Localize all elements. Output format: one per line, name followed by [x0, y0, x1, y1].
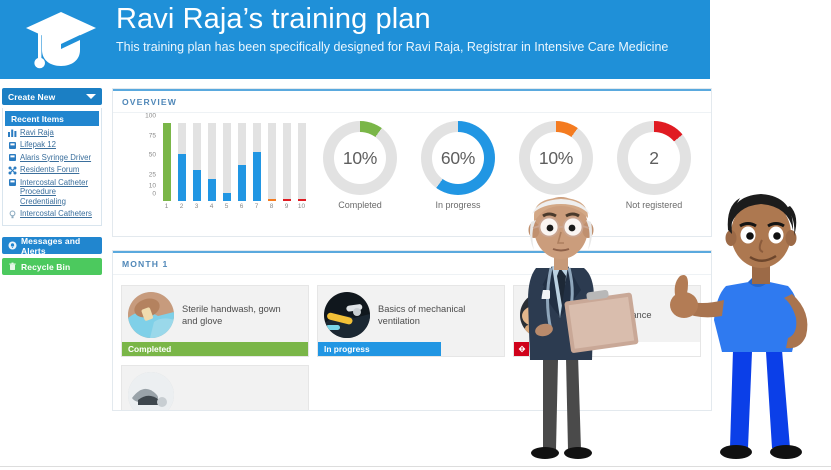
month-panel-header: MONTH 1: [113, 251, 711, 275]
bar-fill[interactable]: [283, 199, 291, 201]
y-axis-tick-label: 25: [149, 171, 159, 178]
overview-panel-header: OVERVIEW: [113, 89, 711, 113]
y-axis-tick-label: 100: [145, 113, 159, 120]
status-badge: Not: [514, 342, 700, 356]
recycle-bin-label: Recycle Bin: [21, 262, 70, 272]
recent-items-header: Recent Items: [5, 111, 99, 126]
donut-label: Completed: [323, 200, 397, 210]
bar-track: [208, 123, 216, 201]
page-title: Ravi Raja’s training plan: [116, 1, 706, 37]
chart-bar-icon: [8, 128, 17, 137]
device-icon: [8, 178, 17, 187]
lightbulb-icon: [8, 210, 17, 219]
chart-plot-area: 01025507510012345678910: [159, 123, 309, 201]
donut-value: 10%: [334, 132, 386, 184]
trash-icon: [8, 262, 17, 271]
bar-fill[interactable]: [163, 123, 171, 201]
status-badge: Completed: [122, 342, 308, 356]
donut-ring: 60%: [421, 121, 495, 195]
page-subtitle: This training plan has been specifically…: [116, 39, 706, 55]
bar-fill[interactable]: [193, 170, 201, 201]
messages-label: Messages and Alerts: [21, 236, 96, 256]
x-axis-tick-label: 10: [296, 203, 308, 210]
alert-diamond-icon: [514, 342, 529, 356]
x-axis-tick-label: 5: [221, 203, 233, 210]
x-axis-tick-label: 6: [236, 203, 248, 210]
course-card[interactable]: nique performance Not: [513, 285, 701, 357]
donut-not-started[interactable]: 10% No: [519, 121, 593, 210]
donut-completed[interactable]: 10% Completed: [323, 121, 397, 210]
list-item[interactable]: Intercostal Catheter Procedure Credentia…: [3, 176, 101, 208]
course-card-list: Sterile handwash, gown and glove Complet…: [113, 275, 711, 410]
course-title: nique performance: [574, 309, 656, 322]
messages-and-alerts-button[interactable]: Messages and Alerts: [2, 237, 102, 254]
bar-track: [268, 123, 276, 201]
course-title: Sterile handwash, gown and glove: [182, 303, 302, 328]
donut-ring: 10%: [323, 121, 397, 195]
bar-fill[interactable]: [268, 199, 276, 201]
donut-ring: 2: [617, 121, 691, 195]
donut-value: 2: [628, 132, 680, 184]
sidebar: Create New Recent Items Ravi Raja Lifepa…: [0, 88, 104, 275]
forum-icon: [8, 166, 17, 175]
recent-items-panel: Recent Items Ravi Raja Lifepak 12 Alaris…: [2, 108, 102, 226]
list-item[interactable]: Residents Forum: [3, 164, 101, 177]
y-axis-tick-label: 0: [152, 191, 159, 198]
device-icon: [8, 153, 17, 162]
month-panel: MONTH 1 Sterile handwash, gown and glove: [112, 250, 712, 411]
bar-track: [163, 123, 171, 201]
course-thumbnail: [128, 292, 174, 338]
create-new-label: Create New: [8, 92, 55, 102]
donut-value: 10%: [530, 132, 582, 184]
bar-fill[interactable]: [223, 193, 231, 201]
header-right-blank: [710, 0, 831, 79]
course-card[interactable]: Sterile handwash, gown and glove Complet…: [121, 285, 309, 357]
bar-track: [178, 123, 186, 201]
x-axis-tick-label: 8: [266, 203, 278, 210]
month-panel-title: MONTH 1: [122, 259, 168, 269]
bar-track: [283, 123, 291, 201]
status-badge: In progress: [318, 342, 441, 356]
y-axis-tick-label: 10: [149, 183, 159, 190]
course-thumbnail: [324, 292, 370, 338]
list-item[interactable]: Ravi Raja: [3, 126, 101, 139]
y-axis-tick-label: 50: [149, 152, 159, 159]
bar-track: [223, 123, 231, 201]
list-item-label: Ravi Raja: [20, 128, 54, 138]
status-badge-label: In progress: [324, 344, 370, 354]
list-item[interactable]: Intercostal Catheters: [3, 208, 101, 221]
bar-track: [298, 123, 306, 201]
course-card[interactable]: Basics of mechanical ventilation In prog…: [317, 285, 505, 357]
x-axis-tick-label: 3: [191, 203, 203, 210]
x-axis-tick-label: 4: [206, 203, 218, 210]
x-axis-tick-label: 1: [161, 203, 173, 210]
course-thumbnail: [520, 292, 566, 338]
bar-fill[interactable]: [178, 154, 186, 201]
donut-label: In progress: [421, 200, 495, 210]
list-item[interactable]: Alaris Syringe Driver: [3, 151, 101, 164]
course-title: Basics of mechanical ventilation: [378, 303, 498, 328]
bar-track: [253, 123, 261, 201]
x-axis-tick-label: 7: [251, 203, 263, 210]
bell-icon: [8, 241, 17, 250]
page-header: Ravi Raja’s training plan This training …: [0, 0, 710, 79]
x-axis-tick-label: 2: [176, 203, 188, 210]
status-badge-label: Completed: [128, 344, 171, 354]
bar-fill[interactable]: [298, 199, 306, 201]
create-new-button[interactable]: Create New: [2, 88, 102, 105]
list-item-label: Residents Forum: [20, 165, 79, 175]
bar-track: [193, 123, 201, 201]
list-item-label: Intercostal Catheters: [20, 209, 92, 219]
course-card[interactable]: [121, 365, 309, 410]
bar-fill[interactable]: [208, 179, 216, 201]
donut-not-registered[interactable]: 2 Not registered: [617, 121, 691, 210]
status-badge-label: Not: [533, 344, 547, 354]
donut-label: No: [519, 200, 593, 210]
y-axis-tick-label: 75: [149, 132, 159, 139]
donut-ring: 10%: [519, 121, 593, 195]
donut-value: 60%: [432, 132, 484, 184]
bar-track: [238, 123, 246, 201]
bar-fill[interactable]: [253, 152, 261, 201]
donut-in-progress[interactable]: 60% In progress: [421, 121, 495, 210]
chevron-down-icon: [86, 94, 96, 99]
progress-bar-chart: 01025507510012345678910: [131, 123, 311, 218]
bar-fill[interactable]: [238, 165, 246, 201]
list-item[interactable]: Lifepak 12: [3, 139, 101, 152]
graduation-cap-icon: [22, 6, 100, 72]
course-thumbnail: [128, 372, 174, 410]
donut-label: Not registered: [617, 200, 691, 210]
list-item-label: Lifepak 12: [20, 140, 56, 150]
recycle-bin-button[interactable]: Recycle Bin: [2, 258, 102, 275]
overview-panel-title: OVERVIEW: [122, 97, 177, 107]
main-content: OVERVIEW 01025507510012345678910 10% Com…: [112, 88, 712, 411]
list-item-label: Alaris Syringe Driver: [20, 153, 91, 163]
list-item-label: Intercostal Catheter Procedure Credentia…: [20, 178, 97, 207]
device-icon: [8, 141, 17, 150]
overview-body: 01025507510012345678910 10% Completed 60…: [113, 113, 711, 236]
x-axis-tick-label: 9: [281, 203, 293, 210]
overview-panel: OVERVIEW 01025507510012345678910 10% Com…: [112, 88, 712, 237]
footer-divider: [0, 466, 831, 470]
